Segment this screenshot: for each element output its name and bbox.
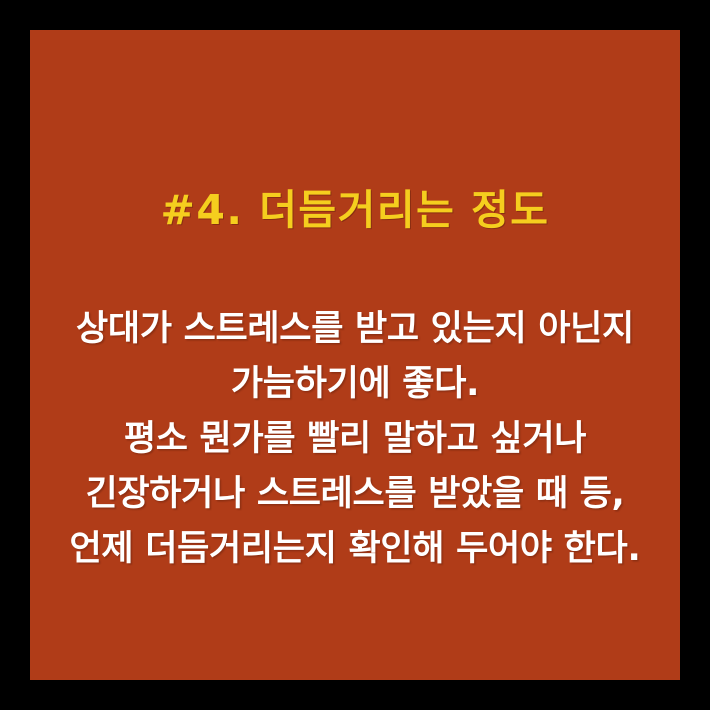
body-line: 상대가 스트레스를 받고 있는지 아닌지 (30, 302, 680, 357)
body-line: 평소 뭔가를 빨리 말하고 싶거나 (30, 412, 680, 467)
body-line: 언제 더듬거리는지 확인해 두어야 한다. (30, 522, 680, 577)
info-card: #4. 더듬거리는 정도 상대가 스트레스를 받고 있는지 아닌지 가늠하기에 … (0, 0, 710, 710)
card-panel: #4. 더듬거리는 정도 상대가 스트레스를 받고 있는지 아닌지 가늠하기에 … (30, 30, 680, 680)
body-line: 가늠하기에 좋다. (30, 357, 680, 412)
body-text-block: 상대가 스트레스를 받고 있는지 아닌지 가늠하기에 좋다. 평소 뭔가를 빨리… (30, 302, 680, 577)
body-line: 긴장하거나 스트레스를 받았을 때 등, (30, 467, 680, 522)
page-title: #4. 더듬거리는 정도 (30, 182, 680, 238)
